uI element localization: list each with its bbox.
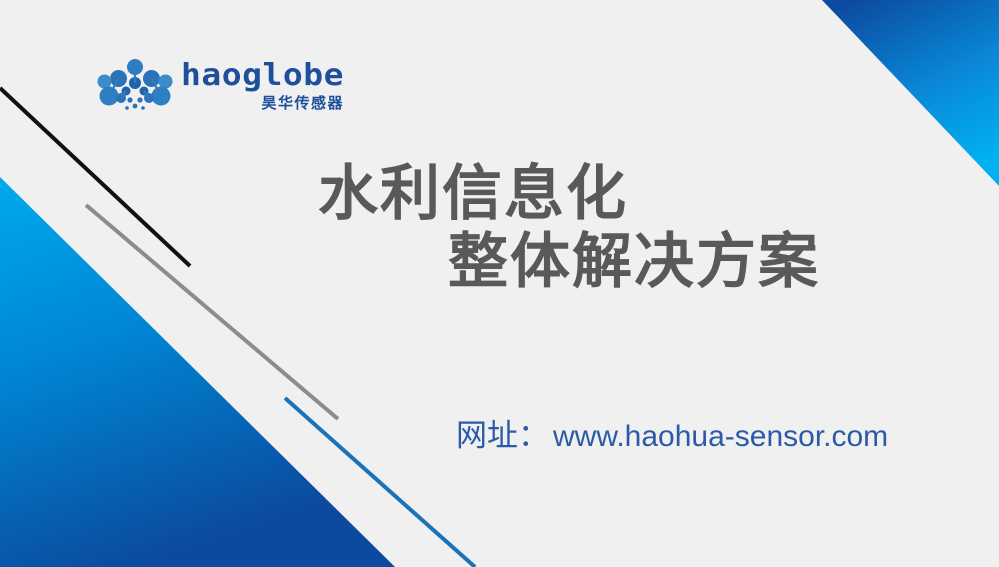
website-label: 网址： xyxy=(456,418,549,453)
blue-diagonal-line xyxy=(285,398,475,567)
logo-subtitle: 昊华传感器 xyxy=(181,96,344,111)
brand-logo[interactable]: haoglobe 昊华传感器 xyxy=(97,58,344,116)
page-title: 水利信息化 整体解决方案 xyxy=(0,160,999,297)
website-line: 网址：www.haohua-sensor.com xyxy=(456,420,888,452)
website-url[interactable]: www.haohua-sensor.com xyxy=(553,420,888,453)
title-line-1: 水利信息化 xyxy=(318,160,999,228)
logo-wordmark: haoglobe xyxy=(181,59,344,89)
logo-text-block: haoglobe 昊华传感器 xyxy=(181,58,344,111)
title-slide: haoglobe 昊华传感器 水利信息化 整体解决方案 网址：www.haohu… xyxy=(0,0,999,567)
right-blue-triangle xyxy=(822,0,999,186)
network-nodes-icon xyxy=(97,58,173,116)
title-line-2: 整体解决方案 xyxy=(448,228,999,296)
